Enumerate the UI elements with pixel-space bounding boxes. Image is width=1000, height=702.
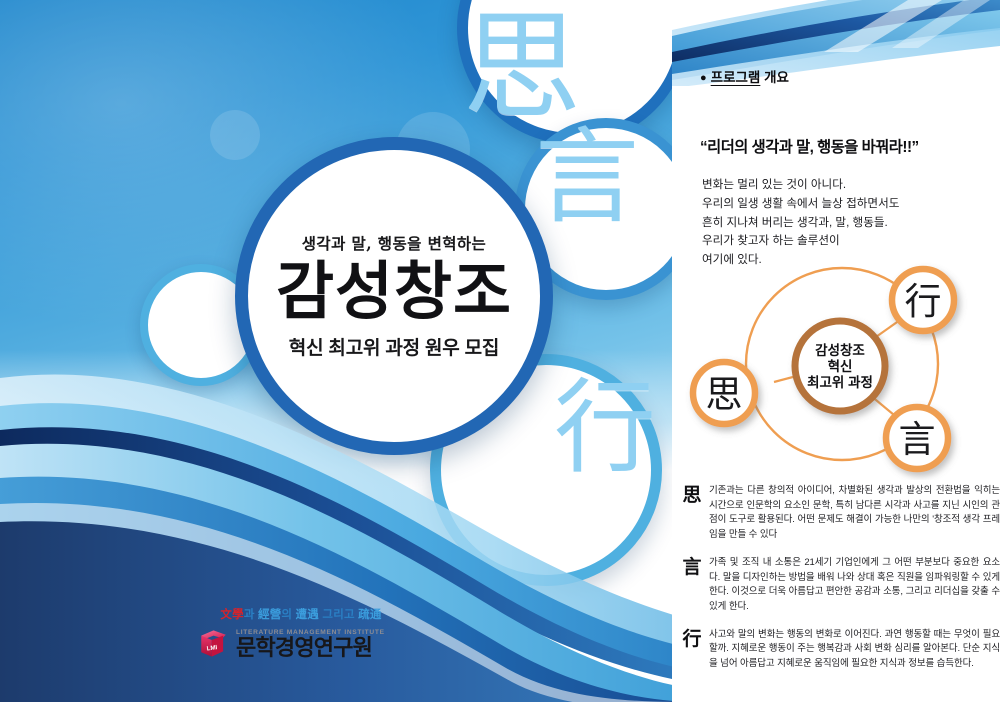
diagram-node-eon-label: 言: [899, 418, 936, 461]
diagram-center-line-2: 혁신: [828, 358, 853, 374]
description-text-sa: 기존과는 다른 창의적 아이디어, 차별화된 생각과 발상의 전환법을 익히는 …: [709, 484, 1000, 543]
description-item: 行 사고와 말의 변화는 행동의 변화로 이어진다. 과연 행동할 때는 무엇이…: [682, 628, 1000, 672]
logo-text-group: LITERATURE MANAGEMENT INSTITUTE 문학경영연구원: [236, 629, 385, 659]
svg-text:LMI: LMI: [206, 644, 218, 652]
lede-line: 흔히 지나쳐 버리는 생각과, 말, 행동들.: [702, 214, 992, 233]
tagline-part-5: 遭遇: [296, 609, 319, 621]
poster-canvas: 思 言 行 생각과 말, 행동을 변혁하는 감성창조 혁신 최고위 과정 원우 …: [0, 0, 1000, 702]
lmi-cube-icon: LMI: [196, 626, 231, 661]
tagline-part-7: 疏通: [358, 609, 381, 621]
diagram-center-line-1: 감성창조: [815, 342, 865, 358]
left-panel: 思 言 行 생각과 말, 행동을 변혁하는 감성창조 혁신 최고위 과정 원우 …: [0, 0, 672, 702]
lede-line: 우리의 일생 생활 속에서 늘상 접하면서도: [702, 195, 992, 214]
logo-tagline: 文學과 經營의 遭遇 그리고 疏通: [196, 606, 406, 622]
page-title: 감성창조: [276, 258, 512, 324]
right-panel: ●프로그램 개요 “리더의 생각과 말, 행동을 바꿔라!!” 변화는 멀리 있…: [672, 0, 1000, 702]
tagline-part-2: 과: [244, 609, 258, 621]
description-text-eon: 가족 및 조직 내 소통은 21세기 기업인에게 그 어떤 부분보다 중요한 요…: [709, 556, 1000, 615]
diagram-center-line-3: 최고위 과정: [807, 374, 873, 390]
tagline-part-4: 의: [281, 609, 295, 621]
lede-line: 변화는 멀리 있는 것이 아니다.: [702, 176, 992, 195]
tagline-part-3: 經營: [258, 609, 281, 621]
bullet-icon: ●: [700, 72, 707, 84]
title-supertext: 생각과 말, 행동을 변혁하는: [302, 232, 486, 254]
hanja-sa-icon: 思: [463, 8, 581, 126]
description-item: 思 기존과는 다른 창의적 아이디어, 차별화된 생각과 발상의 전환법을 익히…: [682, 484, 1000, 543]
title-subtext: 혁신 최고위 과정 원우 모집: [289, 333, 499, 360]
institute-logo: 文學과 經營의 遭遇 그리고 疏通: [196, 606, 406, 661]
program-description-list: 思 기존과는 다른 창의적 아이디어, 차별화된 생각과 발상의 전환법을 익히…: [682, 484, 1000, 685]
diagram-node-sa-label: 思: [706, 373, 743, 416]
concept-diagram: 行 思 言 감성창조 혁신 최고위 과정: [684, 248, 1000, 480]
description-glyph-eon: 言: [682, 556, 702, 615]
description-text-haeng: 사고와 말의 변화는 행동의 변화로 이어진다. 과연 행동할 때는 무엇이 필…: [709, 628, 1000, 672]
diagram-node-haeng-label: 行: [905, 280, 942, 323]
tagline-part-1: 文學: [220, 609, 243, 621]
tagline-part-6: 그리고: [319, 609, 358, 621]
description-item: 言 가족 및 조직 내 소통은 21세기 기업인에게 그 어떤 부분보다 중요한…: [682, 556, 1000, 615]
heading-rest: 개요: [760, 70, 789, 85]
heading-underlined: 프로그램: [711, 70, 761, 85]
description-glyph-sa: 思: [682, 484, 702, 543]
logo-row: LMI LITERATURE MANAGEMENT INSTITUTE 문학경영…: [196, 626, 406, 661]
description-glyph-haeng: 行: [682, 628, 702, 672]
logo-korean-name: 문학경영연구원: [236, 637, 385, 659]
section-heading: ●프로그램 개요: [700, 66, 789, 86]
program-quote: “리더의 생각과 말, 행동을 바꿔라!!”: [700, 135, 992, 157]
